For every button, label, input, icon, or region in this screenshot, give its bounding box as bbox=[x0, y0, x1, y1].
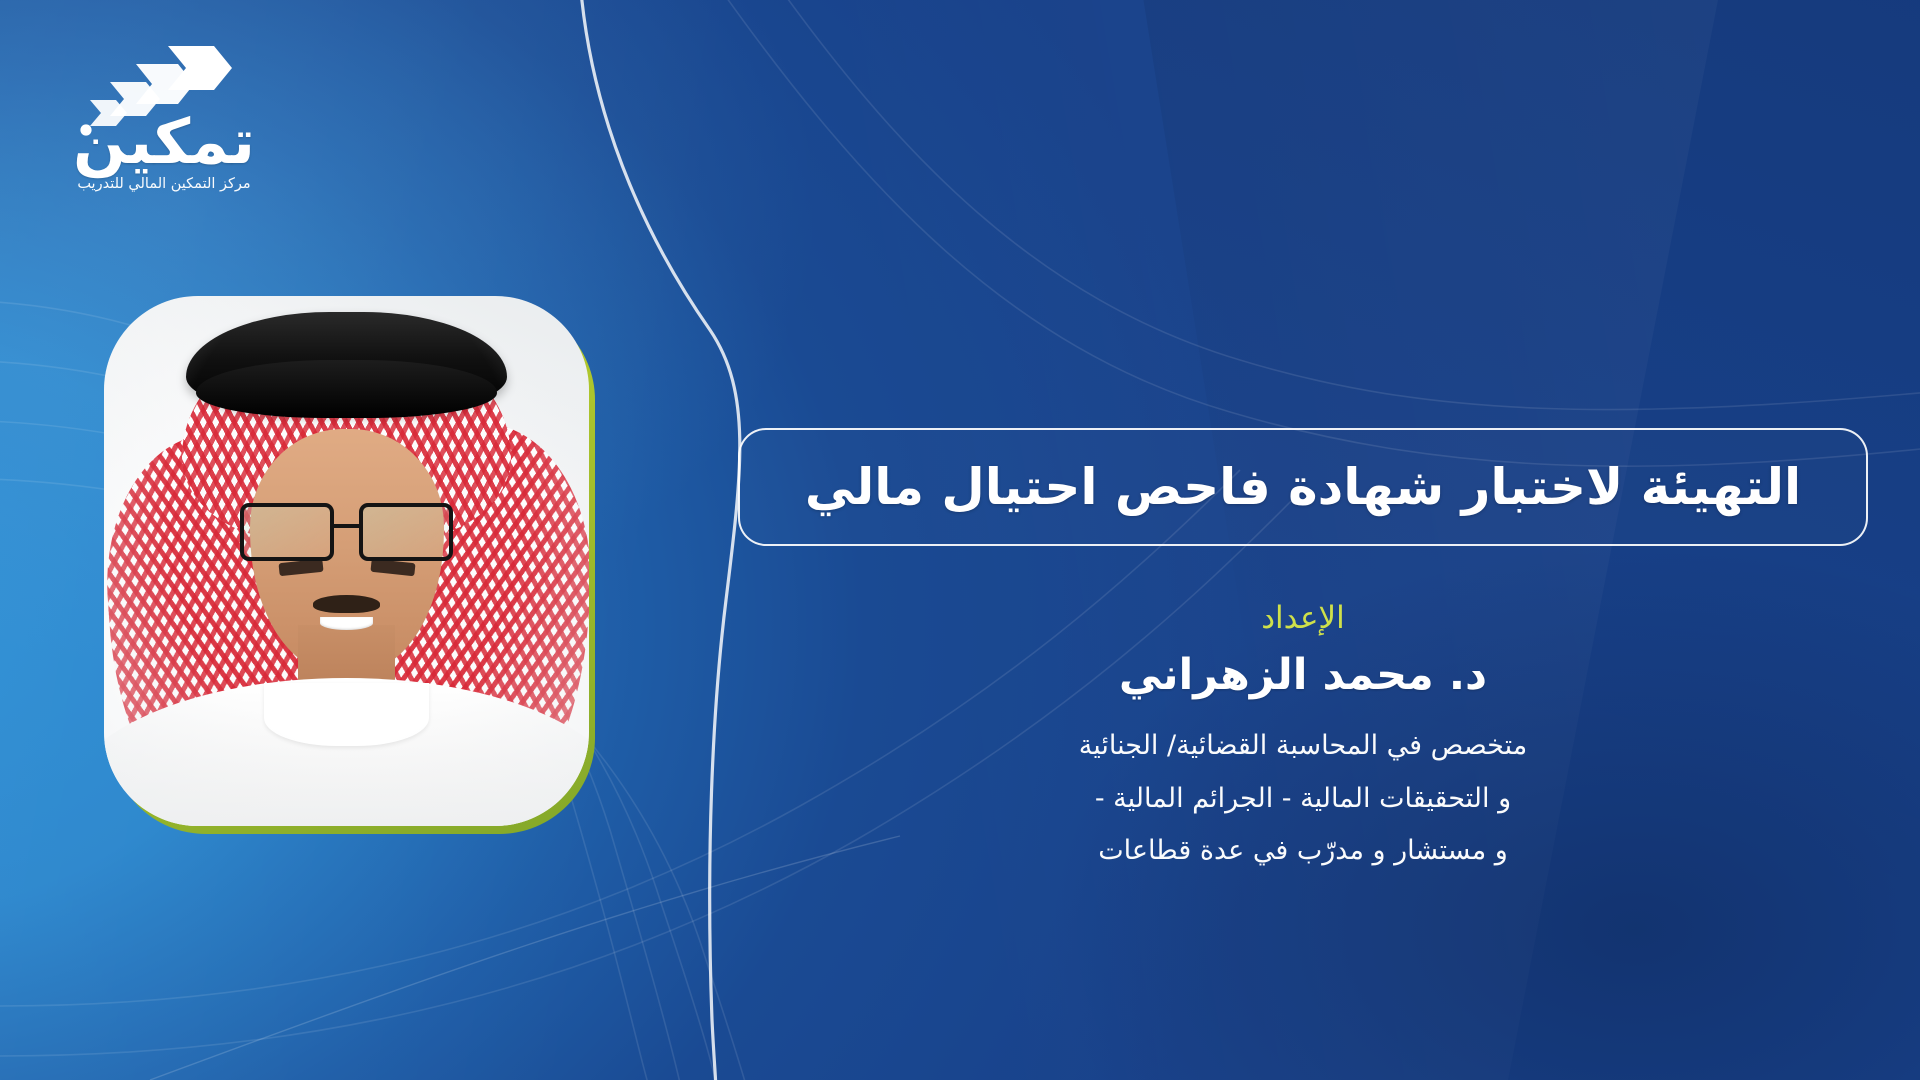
credits-block: الإعداد د. محمد الزهراني متخصص في المحاس… bbox=[738, 600, 1868, 878]
presenter-photo-frame bbox=[104, 296, 589, 826]
slide-title-box: التهيئة لاختبار شهادة فاحص احتيال مالي bbox=[738, 428, 1868, 546]
presenter-bio-line-1: متخصص في المحاسبة القضائية/ الجنائية bbox=[738, 720, 1868, 773]
presenter-bio-line-3: و مستشار و مدرّب في عدة قطاعات bbox=[738, 825, 1868, 878]
logo-wordmark: تمكين bbox=[44, 112, 284, 172]
presenter-name: د. محمد الزهراني bbox=[738, 650, 1868, 700]
presentation-slide: تمكين مركز التمكين المالي للتدريب bbox=[0, 0, 1920, 1080]
logo-tagline: مركز التمكين المالي للتدريب bbox=[44, 176, 284, 192]
brand-logo: تمكين مركز التمكين المالي للتدريب bbox=[44, 42, 284, 192]
credits-label: الإعداد bbox=[738, 600, 1868, 636]
slide-title: التهيئة لاختبار شهادة فاحص احتيال مالي bbox=[805, 458, 1801, 516]
white-swoosh-line bbox=[580, 0, 740, 1080]
presenter-portrait bbox=[104, 296, 589, 826]
photo-vignette bbox=[104, 296, 589, 826]
presenter-bio-line-2: و التحقيقات المالية - الجرائم المالية - bbox=[738, 773, 1868, 826]
